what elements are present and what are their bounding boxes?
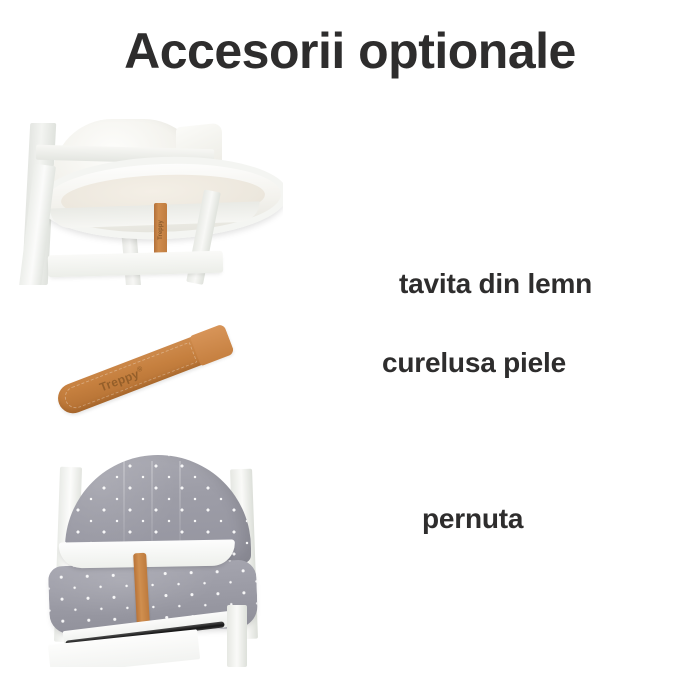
wooden-tray-image: Treppy bbox=[8, 105, 283, 285]
product-row-cushion: pernuta bbox=[0, 445, 700, 670]
strap-brand-label: Treppy bbox=[158, 214, 164, 246]
chair-post-lower bbox=[227, 605, 247, 667]
chair-footrest bbox=[48, 251, 224, 278]
product-label-belt: curelusa piele bbox=[382, 347, 566, 379]
product-row-tray: Treppy tavita din lemn bbox=[0, 105, 700, 290]
star-cushion-image bbox=[35, 445, 285, 667]
page-title: Accesorii optionale bbox=[0, 22, 700, 80]
product-row-belt: Treppy® curelusa piele bbox=[0, 318, 700, 423]
product-label-tray: tavita din lemn bbox=[399, 268, 592, 300]
chair-guard-rail bbox=[59, 539, 235, 568]
leather-strap-image: Treppy® bbox=[45, 318, 245, 418]
leather-strap-body: Treppy® bbox=[54, 324, 235, 417]
product-label-cushion: pernuta bbox=[422, 503, 523, 535]
